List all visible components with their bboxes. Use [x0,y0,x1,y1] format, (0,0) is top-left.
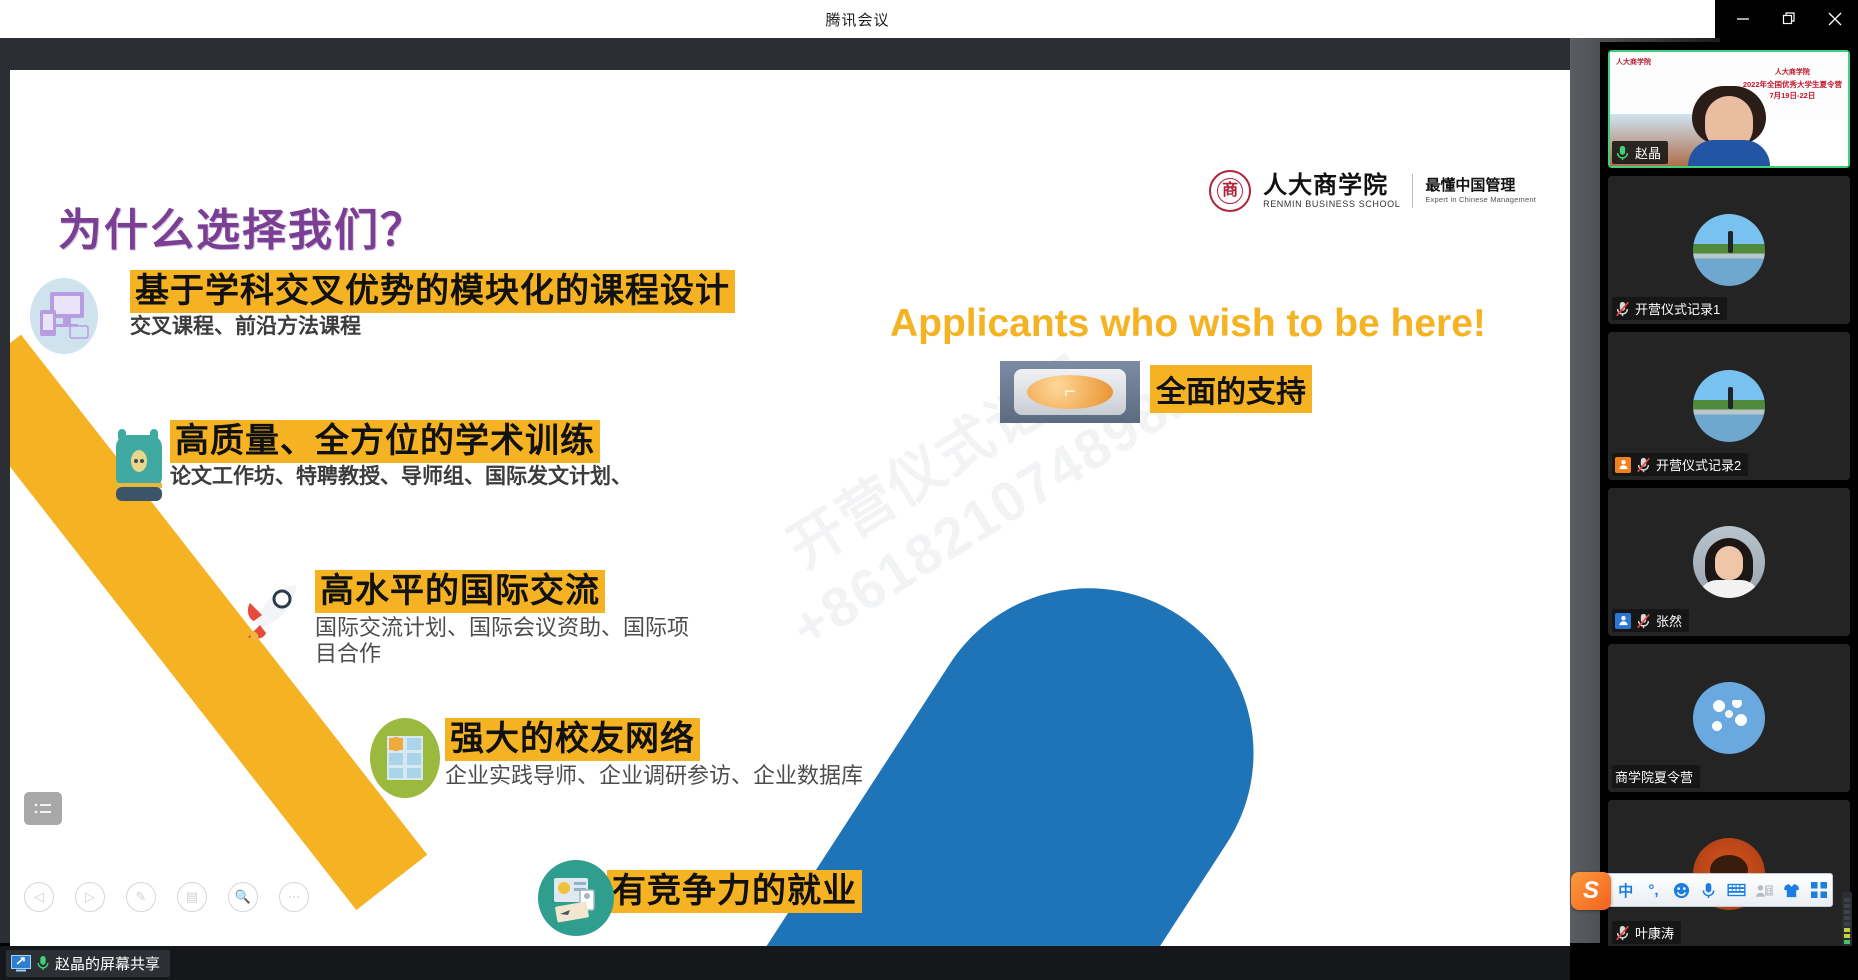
participant-label: 开营仪式记录1 [1612,297,1727,320]
id-card-icon [538,860,614,936]
voice-input-icon[interactable] [1696,876,1722,904]
bottom-bar-filler [1570,946,1858,980]
bullet-subtext: 交叉课程、前沿方法课程 [130,315,550,339]
slide-list-icon[interactable] [24,792,62,825]
screen-share-icon [11,955,31,972]
support-image: ⌐ [1000,361,1140,423]
user-account-icon[interactable]: 日 [1751,876,1777,904]
support-label: 全面的支持 [1150,365,1312,413]
mic-muted-icon [1636,613,1651,629]
svg-text:日: 日 [1766,887,1772,895]
logo-tagline-en: Expert in Chinese Management [1425,195,1536,204]
bullet-subtext: 国际交流计划、国际会议资助、国际项目合作 [315,615,700,666]
soft-keyboard-icon[interactable] [1724,876,1750,904]
participant-avatar [1693,526,1765,598]
slide-title: 为什么选择我们？ [58,194,426,258]
participant-label: 开营仪式记录2 [1612,453,1748,476]
emoji-icon[interactable] [1668,876,1694,904]
bullet-item: 高质量、全方位的学术训练 论文工作坊、特聘教授、导师组、国际发文计划、 [170,420,632,490]
rocket-icon [238,575,310,647]
bullet-subtext: 企业实践导师、企业调研参访、企业数据库 [445,763,863,789]
punctuation-mode-icon[interactable]: °, [1641,876,1667,904]
toolbox-icon[interactable] [1806,876,1832,904]
participant-label: 叶康涛 [1612,921,1681,944]
participant-name: 商学院夏令营 [1615,767,1693,786]
cohost-badge-icon [1615,613,1631,629]
restore-button[interactable] [1766,0,1812,38]
participant-tile[interactable]: 人大商学院 人大商学院 2022年全国优秀大学生夏令营 7月19日-22日 赵晶 [1608,50,1850,168]
window-controls [1715,0,1858,38]
ppt-presenter-controls: ◁ ▷ ✎ ▤ 🔍 ⋯ [24,882,309,912]
previous-slide-button[interactable]: ◁ [24,882,54,912]
participant-person [1692,86,1766,166]
seal-icon: 商 [1209,170,1251,212]
title-bar: 腾讯会议 [0,0,1715,38]
vbg-school: 人大商学院 [1743,68,1842,79]
mic-muted-icon [1636,457,1651,473]
participant-name: 张然 [1656,611,1682,630]
close-button[interactable] [1812,0,1858,38]
video-background-logo: 人大商学院 [1616,57,1651,67]
participant-name: 开营仪式记录1 [1635,299,1720,318]
participant-name: 赵晶 [1635,143,1661,162]
seal-glyph: 商 [1211,183,1249,199]
bullet-heading: 强大的校友网络 [445,718,700,761]
participant-avatar [1693,370,1765,442]
support-image-glyph: ⌐ [1027,375,1113,409]
bullet-heading: 高质量、全方位的学术训练 [170,420,600,463]
participant-name: 开营仪式记录2 [1656,455,1741,474]
participant-tile[interactable]: 开营仪式记录1 [1608,176,1850,324]
logo-divider [1412,174,1413,208]
bullet-heading: 基于学科交叉优势的模块化的课程设计 [130,270,735,313]
bottom-status-bar: 赵晶的屏幕共享 [0,946,1570,980]
school-logo: 商 人大商学院 RENMIN BUSINESS SCHOOL 最懂中国管理 Ex… [1209,170,1536,212]
mic-muted-icon [1615,925,1630,941]
watermark: 开营仪式记录 +8618210748982 [775,298,1210,642]
zoom-in-button[interactable]: 🔍 [228,882,258,912]
more-options-button[interactable]: ⋯ [279,882,309,912]
backpack-icon [110,425,168,505]
host-badge-icon [1615,457,1631,473]
participant-strip[interactable]: 人大商学院 人大商学院 2022年全国优秀大学生夏令营 7月19日-22日 赵晶 [1600,42,1858,980]
logo-name-en: RENMIN BUSINESS SCHOOL [1263,199,1400,209]
support-image-inner: ⌐ [1014,369,1126,415]
mic-unmuted-icon [1615,145,1630,161]
bullet-item: 有竞争力的就业 [607,870,862,913]
all-slides-button[interactable]: ▤ [177,882,207,912]
window-grid-icon [370,718,440,798]
participant-label: 商学院夏令营 [1612,765,1700,788]
mic-muted-icon [1615,301,1630,317]
bullet-heading: 有竞争力的就业 [607,870,862,913]
participant-tile[interactable]: 张然 [1608,488,1850,636]
bullet-heading: 高水平的国际交流 [315,570,605,613]
participant-label: 赵晶 [1612,141,1668,164]
participant-tile[interactable]: 商学院夏令营 [1608,644,1850,792]
participant-avatar [1693,682,1765,754]
logo-tagline-cn: 最懂中国管理 [1425,178,1536,195]
mic-icon [36,955,50,971]
meeting-window: 腾讯会议 开营仪式记录 +8618210748982 为什么选择我 [0,0,1858,980]
language-mode-icon[interactable]: 中 [1613,876,1639,904]
bullet-subtext: 论文工作坊、特聘教授、导师组、国际发文计划、 [170,465,632,489]
bullet-item: 基于学科交叉优势的模块化的课程设计 交叉课程、前沿方法课程 [130,270,735,340]
monitor-icon [30,278,98,354]
minimize-button[interactable] [1720,0,1766,38]
window-title: 腾讯会议 [825,9,889,30]
participant-avatar [1693,214,1765,286]
sogou-ime-toolbar[interactable]: S 中 °, 日 [1578,873,1833,907]
screen-share-status[interactable]: 赵晶的屏幕共享 [6,950,170,977]
bullet-item: 高水平的国际交流 国际交流计划、国际会议资助、国际项目合作 [315,570,700,667]
share-status-text: 赵晶的屏幕共享 [55,953,160,974]
participant-tile[interactable]: 开营仪式记录2 [1608,332,1850,480]
shared-slide: 开营仪式记录 +8618210748982 为什么选择我们？ 商 人大商学院 R… [10,70,1570,950]
participant-label: 张然 [1612,609,1689,632]
next-slide-button[interactable]: ▷ [75,882,105,912]
right-headline: Applicants who wish to be here! [890,302,1486,346]
logo-name-cn: 人大商学院 [1263,173,1400,198]
bullet-item: 强大的校友网络 企业实践导师、企业调研参访、企业数据库 [445,718,863,789]
participant-name: 叶康涛 [1635,923,1674,942]
sogou-logo-icon[interactable]: S [1571,872,1611,910]
pen-tool-button[interactable]: ✎ [126,882,156,912]
skin-theme-icon[interactable] [1779,876,1805,904]
